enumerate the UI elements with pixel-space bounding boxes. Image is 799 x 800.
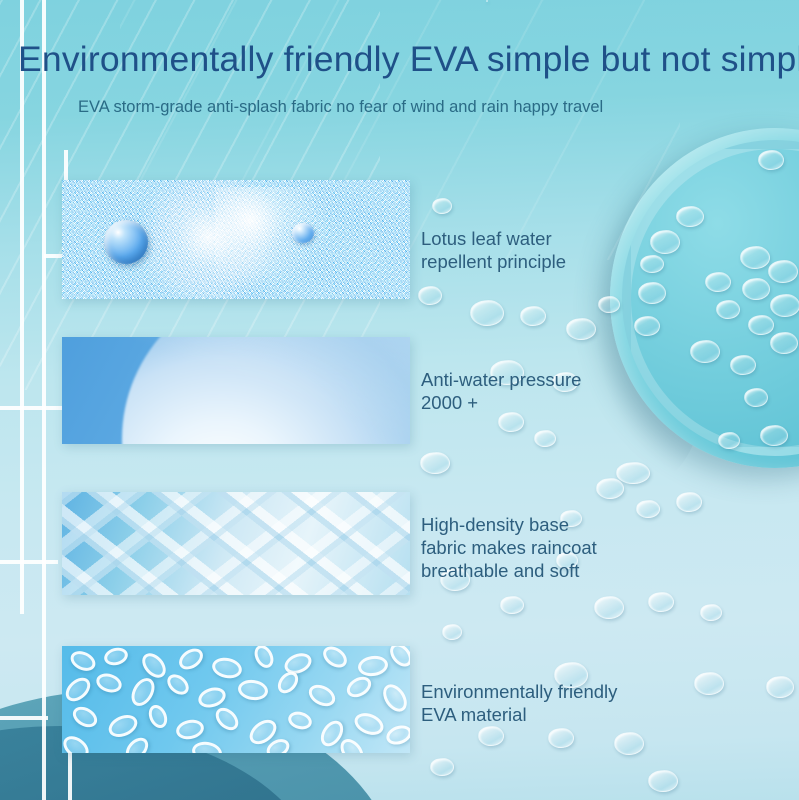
water-droplet — [596, 478, 624, 499]
water-droplet — [420, 452, 450, 474]
eva-pellet — [305, 681, 339, 711]
water-droplet — [758, 150, 784, 170]
water-droplet — [442, 624, 462, 640]
eva-pellet — [357, 654, 389, 678]
water-droplet — [748, 315, 774, 335]
water-droplet — [744, 388, 768, 407]
water-droplet — [768, 260, 798, 283]
feature-image-water-pressure — [62, 337, 410, 444]
eva-pellet — [121, 733, 152, 753]
feature-image-eva-material — [62, 646, 410, 753]
water-droplet — [594, 596, 624, 619]
page-title: Environmentally friendly EVA simple but … — [18, 39, 793, 80]
eva-pellet — [384, 722, 410, 748]
eva-pellet — [286, 709, 314, 732]
water-droplet — [676, 492, 702, 512]
water-bead-small — [292, 223, 314, 243]
feature-image-base-fabric — [62, 492, 410, 595]
water-droplet — [740, 246, 770, 269]
water-droplet — [418, 286, 442, 305]
accent-horizontal-line-short — [0, 560, 58, 564]
water-droplet — [705, 272, 731, 292]
water-droplet — [486, 0, 488, 2]
eva-pellet — [343, 673, 375, 702]
water-droplet — [694, 672, 724, 695]
water-droplet — [500, 596, 524, 614]
eva-pellet — [211, 703, 242, 734]
water-droplet — [534, 430, 556, 447]
poster-canvas: Environmentally friendly EVA simple but … — [0, 0, 799, 800]
water-droplet — [520, 306, 546, 326]
water-droplet — [770, 332, 798, 354]
water-droplet — [650, 230, 680, 254]
water-droplet — [730, 355, 756, 375]
water-droplet — [766, 676, 794, 698]
water-droplet — [470, 300, 504, 326]
eva-pellet — [145, 702, 170, 731]
feature-caption-lotus-effect: Lotus leaf water repellent principle — [421, 227, 651, 273]
eva-pellet — [319, 646, 351, 672]
water-droplet — [676, 206, 704, 227]
panel-sheen — [62, 337, 410, 444]
water-droplet — [634, 316, 660, 336]
eva-pellet — [62, 732, 93, 753]
eva-pellet — [94, 670, 124, 695]
teal-disc-with-water-droplets — [610, 128, 799, 468]
eva-pellet — [386, 646, 410, 671]
eva-pellet — [174, 717, 205, 741]
page-subtitle: EVA storm-grade anti-splash fabric no fe… — [78, 98, 778, 117]
eva-pellet — [138, 649, 171, 683]
eva-pellet — [163, 670, 192, 698]
water-droplet — [432, 198, 452, 214]
water-droplet — [478, 726, 504, 746]
water-droplet — [566, 318, 596, 340]
water-droplet — [770, 294, 799, 317]
accent-vertical-line-outer — [20, 0, 24, 614]
eva-pellet — [210, 655, 244, 681]
water-droplet — [598, 296, 620, 313]
water-droplet — [718, 432, 740, 449]
eva-pellet — [378, 680, 410, 716]
water-droplet — [616, 462, 650, 484]
feature-image-lotus-effect — [62, 180, 410, 299]
water-droplet — [430, 758, 454, 776]
feature-caption-eva-material: Environmentally friendly EVA material — [421, 680, 661, 726]
water-droplet — [648, 592, 674, 612]
water-droplet — [742, 278, 770, 300]
feature-caption-base-fabric: High-density base fabric makes raincoat … — [421, 513, 661, 582]
eva-pellet — [69, 703, 101, 732]
eva-pellet — [102, 646, 130, 668]
eva-pellet — [351, 709, 386, 739]
water-droplet — [614, 732, 644, 755]
accent-vertical-line-inner — [42, 0, 46, 800]
accent-horizontal-line-bottom — [0, 716, 48, 720]
disc-shadow — [596, 150, 716, 480]
eva-pellet — [175, 646, 207, 674]
feature-caption-water-pressure: Anti-water pressure 2000 + — [421, 368, 651, 414]
eva-pellet — [62, 673, 95, 706]
water-droplet — [716, 300, 740, 319]
water-bead-large — [104, 220, 148, 264]
water-droplet — [638, 282, 666, 304]
eva-pellet — [237, 678, 269, 702]
eva-pellet — [105, 711, 141, 741]
water-droplet — [700, 604, 722, 621]
water-droplet — [498, 412, 524, 432]
eva-pellet — [251, 646, 277, 671]
water-droplet — [648, 770, 678, 792]
eva-pellet — [190, 740, 223, 753]
splash-glow — [215, 187, 333, 296]
eva-pellet — [67, 647, 98, 674]
water-droplet — [760, 425, 788, 446]
water-droplet — [548, 728, 574, 748]
weave-arc-highlight — [62, 492, 242, 595]
water-droplet — [690, 340, 720, 363]
accent-horizontal-line-mid — [0, 406, 68, 410]
